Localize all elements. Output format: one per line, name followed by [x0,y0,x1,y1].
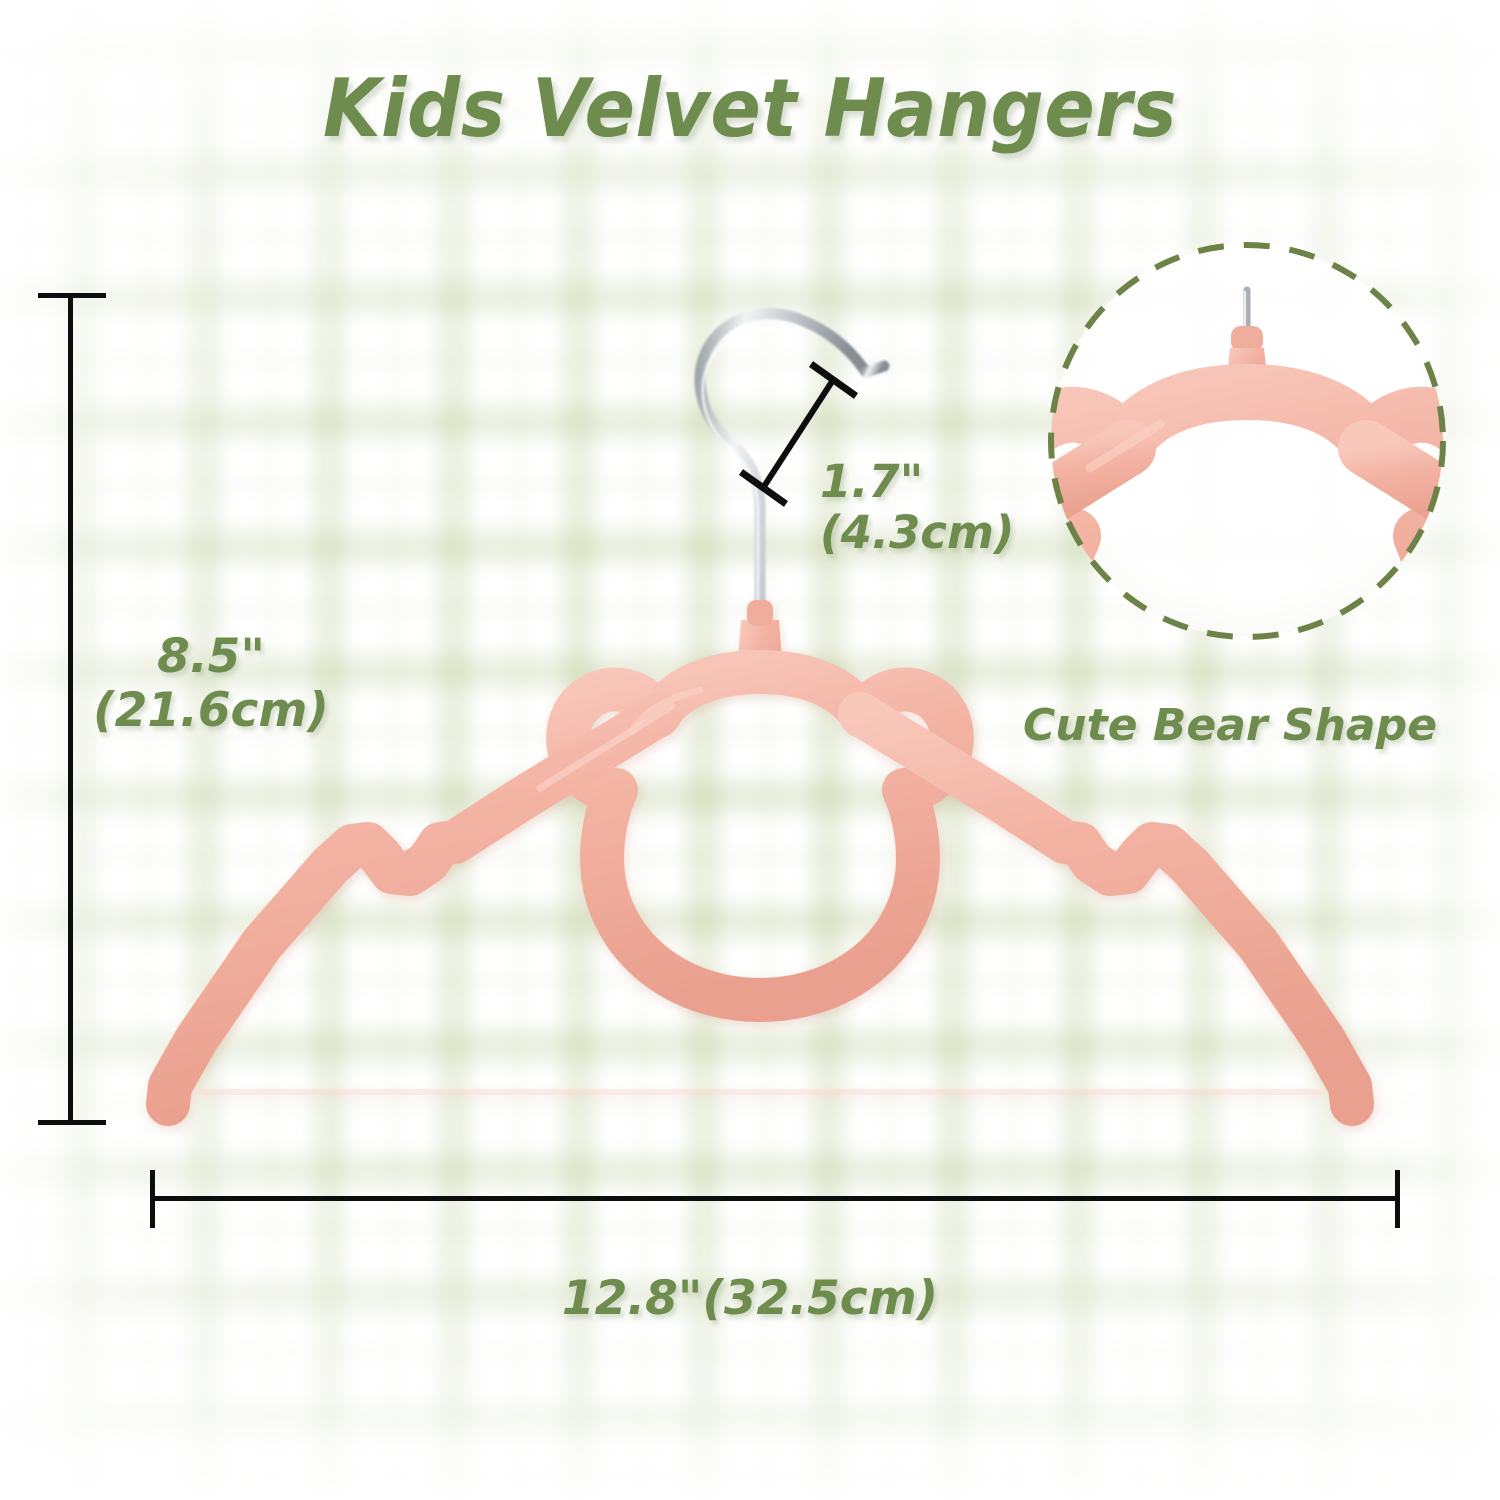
width-bracket-cap-right [1395,1170,1400,1228]
page-title: Kids Velvet Hangers [53,62,1448,155]
feature-caption: Cute Bear Shape [975,700,1485,751]
hook-dimension-label: 1.7" (4.3cm) [820,456,1014,559]
height-dimension-label: 8.5" (21.6cm) [86,630,336,737]
infographic-canvas: Kids Velvet Hangers 8.5" (21.6cm) 1.7" (… [0,0,1500,1500]
width-bracket-cap-left [150,1170,155,1228]
hook-dimension-inches: 1.7" [820,456,1014,507]
height-bracket-line [68,293,73,1125]
height-dimension-inches: 8.5" [86,630,336,684]
width-dimension-label: 12.8"(32.5cm) [0,1272,1500,1326]
width-bracket-line [150,1196,1400,1201]
height-dimension-cm: (21.6cm) [86,684,336,738]
height-bracket-cap-bottom [38,1120,106,1125]
hook-dimension-cm: (4.3cm) [820,507,1014,558]
height-bracket-cap-top [38,293,106,298]
